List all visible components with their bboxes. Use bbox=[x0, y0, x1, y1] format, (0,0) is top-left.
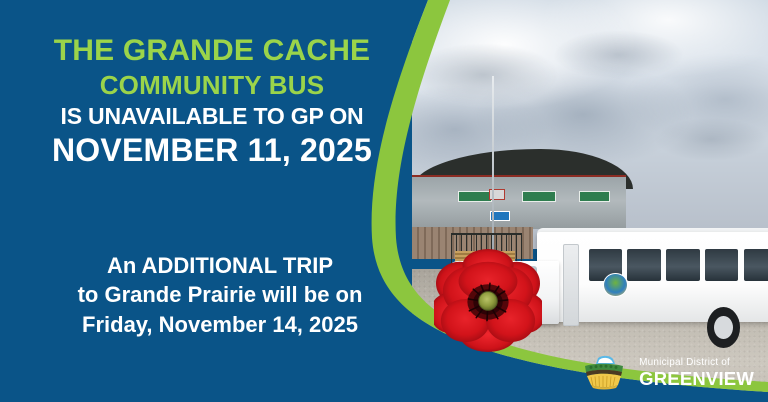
bus-service-notice-poster: THE GRANDE CACHE COMMUNITY BUS IS UNAVAI… bbox=[0, 0, 768, 402]
bus-door bbox=[563, 244, 580, 326]
bus-rear-wheel bbox=[707, 307, 740, 348]
bus-window bbox=[744, 249, 768, 280]
headline-line-3: IS UNAVAILABLE TO GP ON bbox=[0, 105, 424, 128]
remembrance-poppy bbox=[434, 248, 542, 352]
headline-line-2: COMMUNITY BUS bbox=[0, 72, 424, 98]
background-building bbox=[412, 175, 626, 229]
headline-block: THE GRANDE CACHE COMMUNITY BUS IS UNAVAI… bbox=[0, 36, 424, 166]
logo-title: GREENVIEW bbox=[639, 369, 754, 388]
building-sign bbox=[579, 191, 609, 202]
headline-line-1: THE GRANDE CACHE bbox=[0, 36, 424, 66]
subtext-line-3: Friday, November 14, 2025 bbox=[0, 310, 440, 339]
bus-greenview-decal bbox=[603, 273, 627, 297]
building-sign bbox=[522, 191, 556, 202]
subtext-line-2: to Grande Prairie will be on bbox=[0, 280, 440, 309]
bus-window bbox=[627, 249, 660, 280]
greenview-logo: Municipal District of GREENVIEW bbox=[578, 355, 754, 391]
building-sign bbox=[458, 191, 492, 202]
bus-window bbox=[666, 249, 699, 280]
subtext-block: An ADDITIONAL TRIP to Grande Prairie wil… bbox=[0, 251, 440, 339]
logo-subtitle: Municipal District of bbox=[639, 358, 754, 369]
bus-window bbox=[705, 249, 738, 280]
headline-date: NOVEMBER 11, 2025 bbox=[0, 134, 424, 166]
greenview-emblem-icon bbox=[578, 355, 630, 391]
subtext-line-1: An ADDITIONAL TRIP bbox=[0, 251, 440, 280]
